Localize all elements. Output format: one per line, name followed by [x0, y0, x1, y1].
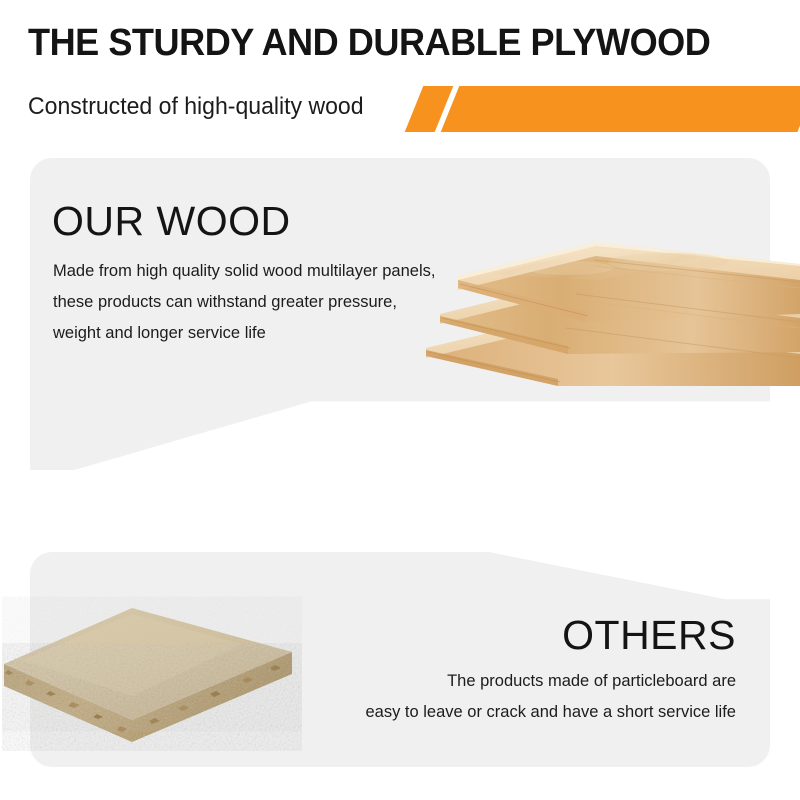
others-body-line-1: The products made of particleboard are: [365, 666, 736, 697]
accent-main-bar: [467, 86, 800, 132]
header-accent-graphic: [410, 86, 800, 132]
infographic-page: THE STURDY AND DURABLE PLYWOOD Construct…: [0, 0, 800, 800]
particleboard-image: [2, 596, 302, 756]
our-wood-body-line-2: these products can withstand greater pre…: [53, 287, 435, 318]
our-wood-body: Made from high quality solid wood multil…: [53, 256, 435, 349]
our-wood-body-line-1: Made from high quality solid wood multil…: [53, 256, 435, 287]
plywood-stack-image: [418, 236, 800, 391]
others-heading: OTHERS: [562, 612, 736, 659]
plywood-stack-svg: [418, 236, 800, 391]
page-subtitle: Constructed of high-quality wood: [28, 93, 364, 121]
others-body-line-2: easy to leave or crack and have a short …: [365, 697, 736, 728]
header: THE STURDY AND DURABLE PLYWOOD Construct…: [0, 0, 800, 150]
particleboard-svg: [2, 596, 302, 756]
page-title: THE STURDY AND DURABLE PLYWOOD: [28, 22, 710, 65]
our-wood-body-line-3: weight and longer service life: [53, 318, 435, 349]
our-wood-heading: OUR WOOD: [52, 198, 291, 245]
others-body: The products made of particleboard are e…: [365, 666, 736, 728]
